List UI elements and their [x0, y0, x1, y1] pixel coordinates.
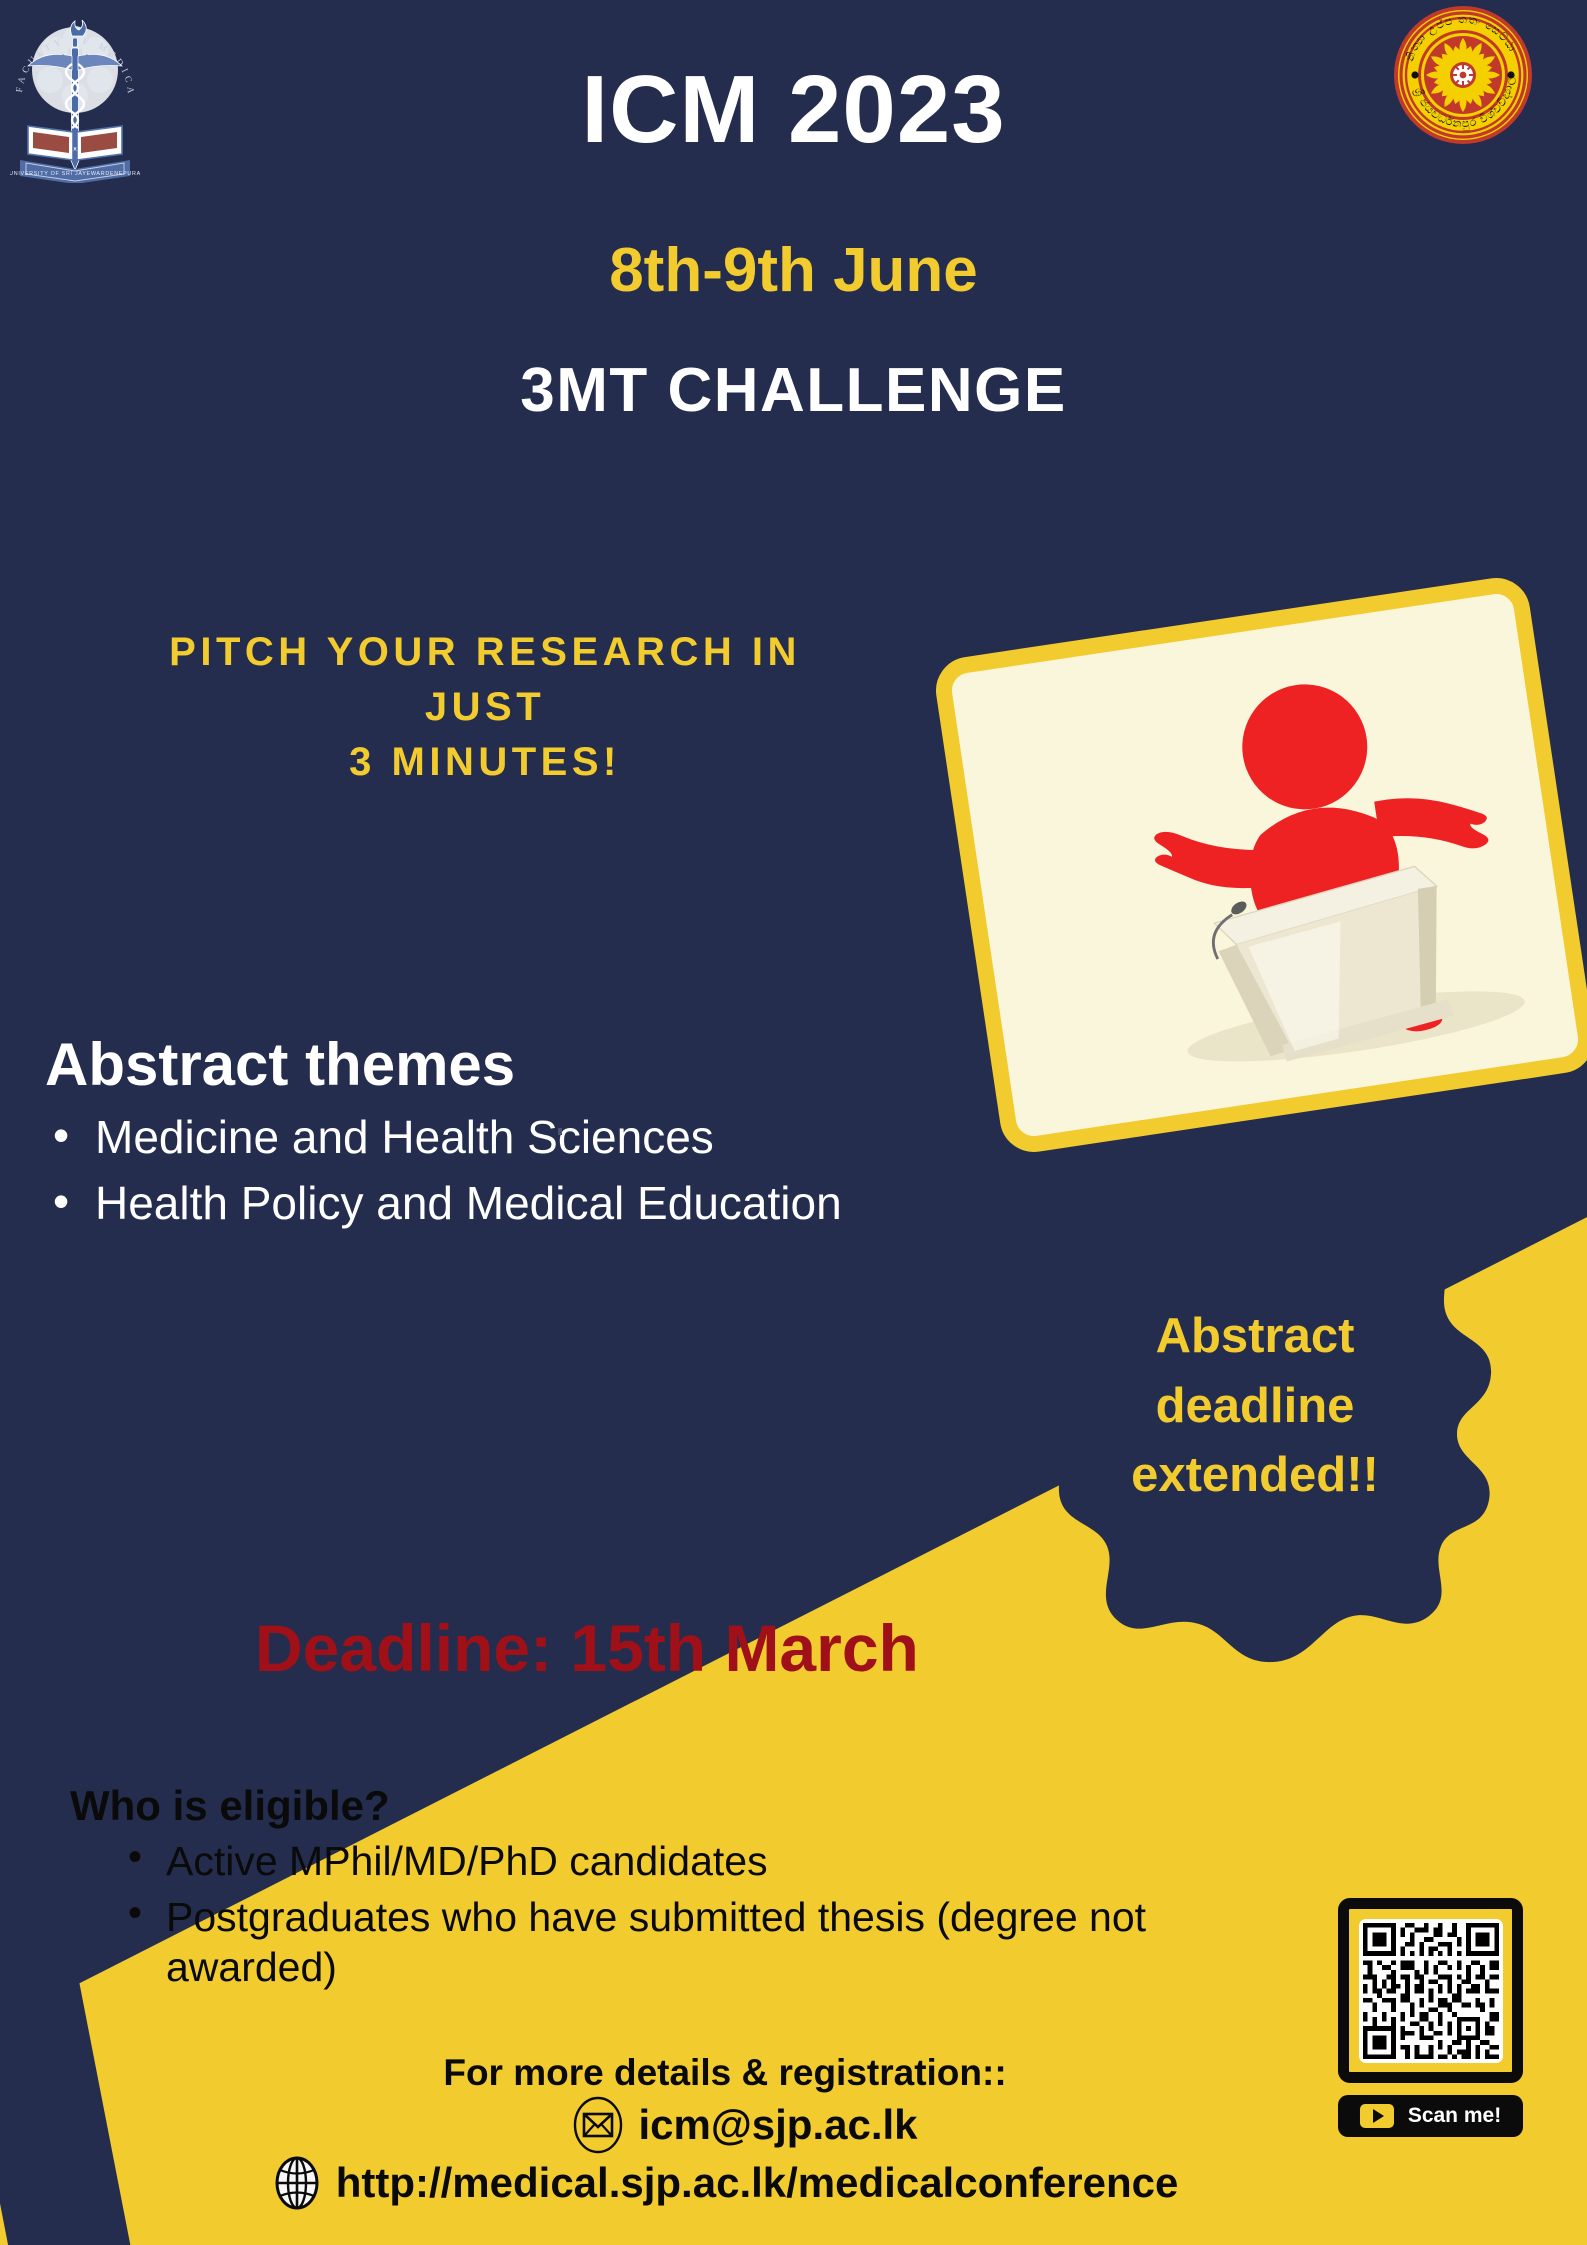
- event-subtitle: 3MT CHALLENGE: [0, 355, 1587, 426]
- poster-title: ICM 2023: [0, 55, 1587, 165]
- faculty-of-medical-sciences-logo: FACULTY OF MEDICAL SCIENCES: [10, 8, 140, 183]
- contact-email[interactable]: icm@sjp.ac.lk: [638, 2101, 917, 2149]
- eligibility-heading: Who is eligible?: [70, 1782, 1270, 1830]
- event-dates: 8th-9th June: [0, 235, 1587, 306]
- list-item: Medicine and Health Sciences: [45, 1109, 975, 1167]
- pitch-line-3: 3 MINUTES!: [55, 735, 915, 790]
- abstract-themes-list: Medicine and Health Sciences Health Poli…: [45, 1109, 975, 1232]
- play-button-icon: [1360, 2104, 1394, 2128]
- poster-canvas: FACULTY OF MEDICAL SCIENCES: [0, 0, 1587, 2245]
- speaker-at-podium-illustration: [950, 592, 1582, 1144]
- envelope-icon: [572, 2096, 624, 2154]
- contact-url-row[interactable]: http://medical.sjp.ac.lk/medicalconferen…: [0, 2156, 1450, 2210]
- deadline-extended-badge: Abstract deadline extended!!: [1005, 1212, 1505, 1667]
- qr-code-block[interactable]: Scan me!: [1338, 1898, 1523, 2137]
- speaker-photo-card: [931, 573, 1587, 1156]
- qr-code-frame: [1338, 1898, 1523, 2083]
- list-item: Health Policy and Medical Education: [45, 1175, 975, 1233]
- svg-text:UNIVERSITY OF SRI JAYEWARDENEP: UNIVERSITY OF SRI JAYEWARDENEPURA: [10, 171, 140, 177]
- qr-code-image[interactable]: [1359, 1919, 1503, 2063]
- list-item: Active MPhil/MD/PhD candidates: [128, 1836, 1270, 1886]
- scan-me-label: Scan me!: [1408, 2104, 1501, 2128]
- badge-text: Abstract deadline extended!!: [1057, 1302, 1453, 1511]
- badge-line-3: extended!!: [1057, 1441, 1453, 1511]
- contact-url[interactable]: http://medical.sjp.ac.lk/medicalconferen…: [336, 2159, 1179, 2207]
- eligibility-list: Active MPhil/MD/PhD candidates Postgradu…: [70, 1836, 1270, 1992]
- contact-email-row[interactable]: icm@sjp.ac.lk: [0, 2096, 1450, 2154]
- badge-line-1: Abstract: [1057, 1302, 1453, 1372]
- scan-me-button[interactable]: Scan me!: [1338, 2095, 1523, 2137]
- globe-icon: [272, 2156, 322, 2210]
- abstract-themes-section: Abstract themes Medicine and Health Scie…: [45, 1030, 975, 1240]
- eligibility-section: Who is eligible? Active MPhil/MD/PhD can…: [70, 1782, 1270, 1998]
- pitch-line-2: JUST: [55, 680, 915, 735]
- abstract-themes-heading: Abstract themes: [45, 1030, 975, 1099]
- speck-artifact: [558, 1128, 562, 1135]
- contact-section: For more details & registration:: icm@sj…: [0, 2052, 1450, 2210]
- university-of-sri-jayewardenepura-seal: නිත්‍යා උප්‍ප තතං සෙට්ඨා ශ්‍රී ජයවර්ධනපු…: [1393, 5, 1533, 145]
- deadline-text: Deadline: 15th March: [255, 1610, 919, 1686]
- pitch-tagline: PITCH YOUR RESEARCH IN JUST 3 MINUTES!: [55, 625, 915, 791]
- badge-line-2: deadline: [1057, 1372, 1453, 1442]
- pitch-line-1: PITCH YOUR RESEARCH IN: [55, 625, 915, 680]
- list-item: Postgraduates who have submitted thesis …: [128, 1892, 1270, 1992]
- contact-heading: For more details & registration::: [0, 2052, 1450, 2094]
